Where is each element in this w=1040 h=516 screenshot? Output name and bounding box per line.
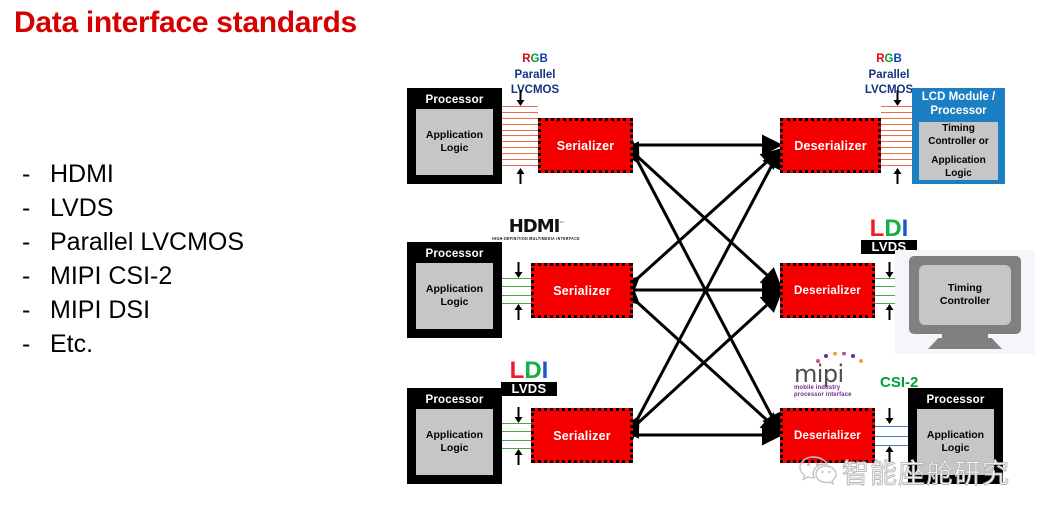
processor-title: Processor: [425, 94, 483, 106]
bullet-label-etc: Etc.: [50, 332, 93, 357]
lcd-title-line1: LCD Module /: [922, 91, 995, 105]
hdmi-word-text: HDMI: [509, 216, 560, 237]
ldi-wordmark: LDI: [501, 360, 557, 382]
ldi-lvds-logo-row3: LDI LVDS: [501, 360, 557, 396]
ldi-i-letter: I: [542, 357, 549, 384]
bullet-label-mipi-csi2: MIPI CSI-2: [50, 264, 172, 289]
bullet-label-mipi-dsi: MIPI DSI: [50, 298, 150, 323]
monitor-stand-base: [928, 338, 1002, 349]
interface-label-rgb-parallel-lvcmos-left: RGB Parallel LVCMOS: [499, 52, 571, 99]
lcd-module-block: LCD Module / Processor Timing Controller…: [912, 88, 1005, 184]
list-item: - Etc.: [22, 332, 382, 357]
ldi-i-letter: I: [902, 215, 909, 242]
processor-title: Processor: [926, 394, 984, 406]
ldi-l-letter: L: [870, 215, 885, 242]
mipi-dots-icon: [814, 352, 866, 366]
direction-arrow-up-row1-right: [892, 168, 903, 184]
label-lvcmos: LVCMOS: [499, 83, 571, 99]
core-line-application: Application: [426, 283, 483, 296]
processor-core: Application Logic: [917, 409, 994, 475]
lcd-module-core: Timing Controller or Application Logic: [919, 122, 998, 180]
lcd-module-title: LCD Module / Processor: [922, 91, 995, 119]
mipi-tagline-line2: processor interface: [794, 392, 898, 400]
serializer-block-row2: Serializer: [531, 263, 633, 318]
processor-core: Application Logic: [416, 409, 493, 475]
bullet-list: - HDMI - LVDS - Parallel LVCMOS - MIPI C…: [22, 162, 382, 366]
ldi-lvds-logo-row2: LDI LVDS: [861, 218, 917, 254]
rgb-b-letter: B: [893, 53, 901, 65]
serializer-label: Serializer: [553, 284, 611, 298]
ldi-d-letter: D: [884, 215, 901, 242]
core-line-timing: Timing: [942, 122, 975, 135]
processor-core: Application Logic: [416, 263, 493, 329]
bullet-marker: -: [22, 298, 50, 323]
screen-line-timing: Timing: [940, 282, 990, 295]
hdmi-logo: HDMI™ HIGH-DEFINITION MULTIMEDIA INTERFA…: [488, 218, 584, 241]
hdmi-tagline: HIGH-DEFINITION MULTIMEDIA INTERFACE: [488, 237, 584, 242]
ldi-wordmark: LDI: [861, 218, 917, 240]
label-parallel: Parallel: [853, 68, 925, 84]
processor-core: Application Logic: [416, 109, 493, 175]
monitor-display-block: Timing Controller: [895, 250, 1035, 354]
serializer-block-row1: Serializer: [538, 118, 633, 173]
interface-architecture-diagram: RGB Parallel LVCMOS Processor Applicatio…: [395, 50, 1040, 516]
hdmi-trademark-icon: ™: [559, 221, 563, 227]
processor-block-row1: Processor Application Logic: [407, 88, 502, 184]
ldi-lvds-label: LVDS: [501, 382, 557, 396]
direction-arrow-up-row3-left: [513, 449, 524, 465]
core-line-logic: Logic: [945, 167, 972, 180]
rgb-r-letter: R: [876, 53, 884, 65]
processor-title: Processor: [425, 394, 483, 406]
processor-block-row2: Processor Application Logic: [407, 242, 502, 338]
core-line-logic: Logic: [441, 142, 469, 155]
serializer-label: Serializer: [553, 429, 611, 443]
deserializer-label: Deserializer: [794, 285, 861, 297]
deserializer-block-row3: Deserializer: [780, 408, 875, 463]
page-title: Data interface standards: [14, 6, 357, 40]
hdmi-wordmark: HDMI™: [488, 218, 584, 236]
processor-block-row3-right: Processor Application Logic: [908, 388, 1003, 484]
direction-arrow-down-row2-left: [513, 262, 524, 278]
signal-bus-row1-right: [881, 106, 913, 166]
ldi-d-letter: D: [524, 357, 541, 384]
label-parallel: Parallel: [499, 68, 571, 84]
processor-block-row3: Processor Application Logic: [407, 388, 502, 484]
direction-arrow-up-row2-left: [513, 304, 524, 320]
core-line-logic: Logic: [942, 442, 970, 455]
bullet-marker: -: [22, 230, 50, 255]
list-item: - Parallel LVCMOS: [22, 230, 382, 255]
direction-arrow-down-row3-left: [513, 407, 524, 423]
processor-title: Processor: [425, 248, 483, 260]
direction-arrow-up-row1-left: [515, 168, 526, 184]
signal-bus-row1-left: [502, 106, 538, 166]
core-line-logic: Logic: [441, 442, 469, 455]
lcd-title-line2: Processor: [922, 105, 995, 119]
serializer-label: Serializer: [557, 139, 615, 153]
direction-arrow-down-row3-right: [884, 408, 895, 424]
serializer-block-row3: Serializer: [531, 408, 633, 463]
bullet-marker: -: [22, 332, 50, 357]
core-line-application: Application: [426, 129, 483, 142]
direction-arrow-down-row2-right: [884, 262, 895, 278]
direction-arrow-up-row3-right: [884, 446, 895, 462]
core-line-application: Application: [931, 154, 985, 167]
list-item: - HDMI: [22, 162, 382, 187]
rgb-r-letter: R: [522, 53, 530, 65]
monitor-bezel: Timing Controller: [909, 256, 1021, 334]
bullet-label-lvds: LVDS: [50, 196, 113, 221]
core-line-controller-or: Controller or: [928, 135, 989, 148]
deserializer-block-row2: Deserializer: [780, 263, 875, 318]
list-item: - LVDS: [22, 196, 382, 221]
bullet-label-hdmi: HDMI: [50, 162, 114, 187]
signal-bus-row3-right: [875, 426, 908, 446]
slide-canvas: Data interface standards - HDMI - LVDS -…: [0, 0, 1040, 516]
core-line-logic: Logic: [441, 296, 469, 309]
bullet-label-parallel-lvcmos: Parallel LVCMOS: [50, 230, 244, 255]
ldi-l-letter: L: [510, 357, 525, 384]
list-item: - MIPI CSI-2: [22, 264, 382, 289]
monitor-screen: Timing Controller: [919, 265, 1011, 325]
core-line-application: Application: [927, 429, 984, 442]
bullet-marker: -: [22, 196, 50, 221]
screen-line-controller: Controller: [940, 295, 990, 308]
bullet-marker: -: [22, 264, 50, 289]
deserializer-label: Deserializer: [794, 430, 861, 442]
deserializer-label: Deserializer: [794, 139, 867, 153]
rgb-b-letter: B: [539, 53, 547, 65]
core-line-application: Application: [426, 429, 483, 442]
direction-arrow-down-row1-left: [515, 90, 526, 106]
deserializer-block-row1: Deserializer: [780, 118, 881, 173]
bullet-marker: -: [22, 162, 50, 187]
list-item: - MIPI DSI: [22, 298, 382, 323]
direction-arrow-up-row2-right: [884, 304, 895, 320]
